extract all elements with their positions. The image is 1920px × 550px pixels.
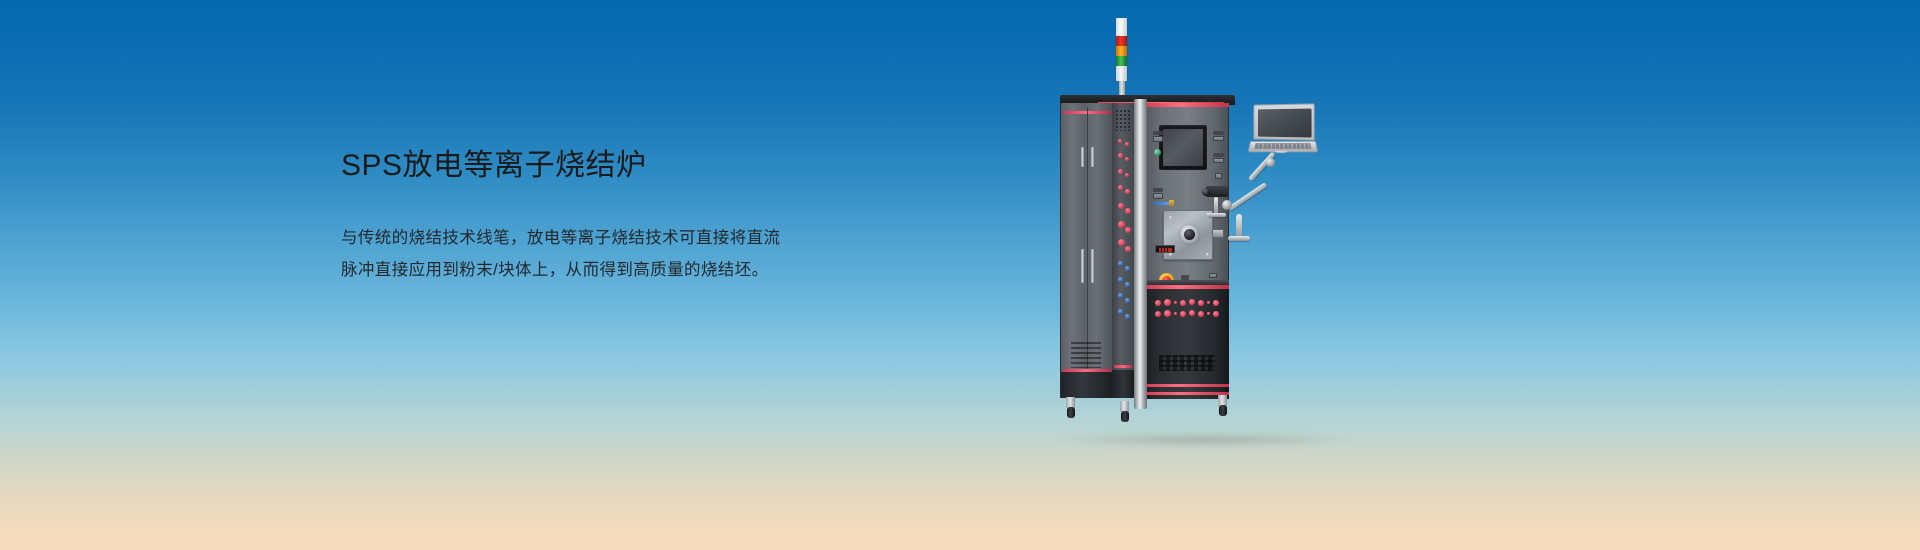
port xyxy=(1180,300,1186,306)
accent-stripe-lower-top xyxy=(1147,285,1229,289)
side-vent-perforations xyxy=(1115,109,1131,131)
description-line-2: 脉冲直接应用到粉末/块体上，从而得到高质量的烧结坯。 xyxy=(341,254,861,286)
control-button-4[interactable] xyxy=(1153,136,1163,142)
port xyxy=(1125,142,1129,146)
control-display-screen[interactable] xyxy=(1163,129,1203,166)
furnace-body xyxy=(1060,95,1235,413)
port xyxy=(1213,300,1219,306)
chamber-bolt xyxy=(1169,253,1172,256)
valve-fitting-gold xyxy=(1169,200,1174,206)
port xyxy=(1189,310,1195,316)
tower-segment-white-bottom xyxy=(1116,66,1127,81)
laptop-keyboard[interactable] xyxy=(1255,143,1312,149)
port xyxy=(1189,299,1195,305)
port xyxy=(1118,309,1123,314)
chamber-latch-handle[interactable] xyxy=(1212,229,1224,238)
cabinet-vent-slots xyxy=(1071,342,1101,368)
chamber-bolt xyxy=(1206,253,1209,256)
camera-lens-icon xyxy=(1202,188,1210,196)
port xyxy=(1118,203,1124,209)
port xyxy=(1125,157,1129,161)
caster-tire xyxy=(1067,407,1075,418)
port xyxy=(1174,312,1177,315)
port xyxy=(1164,299,1171,306)
cabinet-handle-left xyxy=(1081,249,1084,283)
description-line-1: 与传统的烧结技术线笔，放电等离子烧结技术可直接将直流 xyxy=(341,222,861,254)
port xyxy=(1125,189,1130,194)
caster-wheel xyxy=(1120,401,1129,423)
chamber-viewport-window xyxy=(1184,229,1195,240)
port xyxy=(1125,208,1131,214)
port xyxy=(1155,300,1161,306)
page-title: SPS放电等离子烧结炉 xyxy=(341,148,861,184)
digital-readout xyxy=(1155,245,1175,253)
port xyxy=(1118,261,1123,266)
control-button-3[interactable] xyxy=(1215,173,1222,179)
caster-tire xyxy=(1219,405,1227,416)
cabinet-hinge-upper xyxy=(1081,147,1084,167)
port xyxy=(1198,311,1204,317)
control-label-4 xyxy=(1153,188,1163,192)
port xyxy=(1125,173,1129,177)
product-image-sps-furnace xyxy=(1030,18,1370,438)
control-button-1[interactable] xyxy=(1213,136,1224,141)
control-button-5[interactable] xyxy=(1153,193,1163,199)
caster-wheel xyxy=(1218,395,1227,417)
chamber-viewport-ring xyxy=(1179,224,1200,245)
valve-hose-blue xyxy=(1154,202,1170,205)
caster-wheel xyxy=(1066,397,1075,419)
cabinet-handle-right xyxy=(1091,249,1094,283)
accent-stripe-side xyxy=(1114,365,1132,368)
control-label-3 xyxy=(1153,131,1163,135)
port xyxy=(1118,277,1123,282)
port xyxy=(1118,185,1123,190)
tower-segment-white-top xyxy=(1116,18,1127,36)
port xyxy=(1155,311,1161,317)
readout-digits xyxy=(1159,248,1172,252)
side-port-strip xyxy=(1112,103,1134,398)
arm-joint-mid xyxy=(1266,158,1275,167)
port-array xyxy=(1155,299,1219,321)
port xyxy=(1125,282,1130,287)
tower-segment-red xyxy=(1116,36,1127,46)
laptop-lid xyxy=(1253,103,1314,140)
arm-joint-base xyxy=(1222,200,1232,210)
corner-pillar xyxy=(1134,99,1147,409)
control-display-bezel xyxy=(1159,125,1207,170)
cabinet-hinge-upper2 xyxy=(1091,147,1094,167)
port xyxy=(1118,221,1125,228)
control-laptop[interactable] xyxy=(1252,104,1314,156)
selector-knob[interactable] xyxy=(1154,149,1161,156)
port xyxy=(1125,314,1130,319)
control-label-1 xyxy=(1213,131,1224,135)
port xyxy=(1118,239,1125,246)
camera-base xyxy=(1206,213,1226,217)
accent-stripe-lower-1 xyxy=(1147,384,1229,387)
port xyxy=(1118,139,1122,143)
port xyxy=(1125,227,1131,233)
banner-description: 与传统的烧结技术线笔，放电等离子烧结技术可直接将直流 脉冲直接应用到粉末/块体上… xyxy=(341,222,861,286)
hero-banner: SPS放电等离子烧结炉 与传统的烧结技术线笔，放电等离子烧结技术可直接将直流 脉… xyxy=(0,0,1920,550)
signal-tower-light-icon xyxy=(1116,18,1127,81)
arm-foot xyxy=(1228,236,1250,241)
port xyxy=(1125,246,1131,252)
accent-stripe-front-top xyxy=(1147,103,1229,107)
port xyxy=(1118,293,1123,298)
left-cabinet xyxy=(1060,103,1112,398)
port xyxy=(1118,169,1123,174)
caster-tire xyxy=(1121,411,1129,422)
port xyxy=(1207,301,1210,304)
tower-segment-amber xyxy=(1116,46,1127,56)
side-base-panel xyxy=(1112,370,1134,398)
port xyxy=(1164,310,1171,317)
lower-panel xyxy=(1147,289,1229,399)
laptop-base xyxy=(1248,141,1319,152)
port xyxy=(1118,153,1123,158)
port xyxy=(1125,298,1130,303)
port xyxy=(1125,266,1130,271)
accent-stripe-lower-2 xyxy=(1147,392,1229,395)
control-label-2 xyxy=(1213,153,1224,157)
banner-text-block: SPS放电等离子烧结炉 与传统的烧结技术线笔，放电等离子烧结技术可直接将直流 脉… xyxy=(341,148,861,286)
control-button-6[interactable] xyxy=(1209,273,1217,278)
lower-vent-grille xyxy=(1159,355,1215,371)
cabinet-base-panel xyxy=(1061,372,1113,398)
port xyxy=(1174,301,1177,304)
port xyxy=(1207,312,1210,315)
chamber-bolt xyxy=(1169,216,1172,219)
side-port-array xyxy=(1114,137,1132,337)
tower-segment-green xyxy=(1116,56,1127,66)
control-button-2[interactable] xyxy=(1213,158,1224,163)
port xyxy=(1213,311,1219,317)
laptop-touchpad[interactable] xyxy=(1274,150,1289,153)
laptop-screen[interactable] xyxy=(1258,109,1312,138)
port xyxy=(1198,300,1204,306)
port xyxy=(1180,311,1186,317)
